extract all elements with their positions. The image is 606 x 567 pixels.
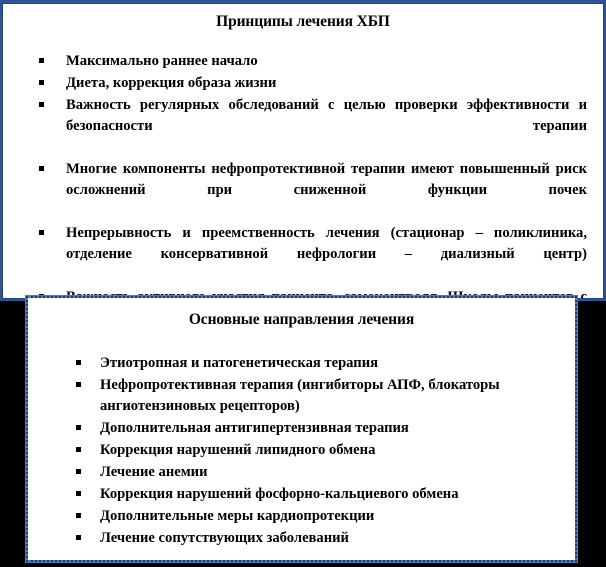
page-title-principles: Принципы лечения ХБП xyxy=(3,13,603,31)
square-bullet-icon xyxy=(76,513,81,518)
list-item: Лечение анемии xyxy=(76,462,561,483)
list-item-label: Максимально раннее начало xyxy=(66,51,587,72)
list-item-label: Этиотропная и патогенетическая терапия xyxy=(100,353,561,374)
list-item-label: Лечение анемии xyxy=(100,462,561,483)
list-item-label: Нефропротективная терапия (ингибиторы АП… xyxy=(100,375,561,417)
bullet-list-principles: Максимально раннее началоДиета, коррекци… xyxy=(39,51,587,298)
square-bullet-icon xyxy=(39,166,44,171)
square-bullet-icon xyxy=(76,447,81,452)
list-item: Коррекция нарушений липидного обмена xyxy=(76,440,561,461)
slide-panel-directions[interactable]: Основные направления лечения Этиотропная… xyxy=(25,295,578,563)
square-bullet-icon xyxy=(39,102,44,107)
list-item-label: Лечение сопутствующих заболеваний xyxy=(100,528,561,549)
list-item-label: Дополнительные меры кардиопротекции xyxy=(100,506,561,527)
list-item: Диета, коррекция образа жизни xyxy=(39,73,587,94)
list-item: Важность регулярных обследований с целью… xyxy=(39,95,587,158)
list-item: Этиотропная и патогенетическая терапия xyxy=(76,353,561,374)
list-item: Дополнительные меры кардиопротекции xyxy=(76,506,561,527)
square-bullet-icon xyxy=(39,230,44,235)
square-bullet-icon xyxy=(39,80,44,85)
list-item-label: Коррекция нарушений липидного обмена xyxy=(100,440,561,461)
list-item-label: Многие компоненты нефропротективной тера… xyxy=(66,159,587,222)
list-item: Многие компоненты нефропротективной тера… xyxy=(39,159,587,222)
square-bullet-icon xyxy=(76,425,81,430)
slide-content-principles: Принципы лечения ХБП Максимально раннее … xyxy=(3,4,603,298)
list-item: Дополнительная антигипертензивная терапи… xyxy=(76,418,561,439)
square-bullet-icon xyxy=(76,491,81,496)
square-bullet-icon xyxy=(39,58,44,63)
bullet-list-directions: Этиотропная и патогенетическая терапияНе… xyxy=(76,353,561,549)
square-bullet-icon xyxy=(76,360,81,365)
list-item-label: Дополнительная антигипертензивная терапи… xyxy=(100,418,561,439)
list-item-label: Коррекция нарушений фосфорно-кальциевого… xyxy=(100,484,561,505)
page-title-directions: Основные направления лечения xyxy=(28,311,575,329)
list-item: Нефропротективная терапия (ингибиторы АП… xyxy=(76,375,561,417)
slide-content-directions: Основные направления лечения Этиотропная… xyxy=(28,298,575,560)
slide-panel-principles[interactable]: Принципы лечения ХБП Максимально раннее … xyxy=(0,0,606,301)
square-bullet-icon xyxy=(76,469,81,474)
list-item: Непрерывность и преемственность лечения … xyxy=(39,223,587,286)
list-item: Лечение сопутствующих заболеваний xyxy=(76,528,561,549)
list-item: Максимально раннее начало xyxy=(39,51,587,72)
list-item-label: Непрерывность и преемственность лечения … xyxy=(66,223,587,286)
list-item: Коррекция нарушений фосфорно-кальциевого… xyxy=(76,484,561,505)
square-bullet-icon xyxy=(76,535,81,540)
list-item-label: Важность регулярных обследований с целью… xyxy=(66,95,587,158)
square-bullet-icon xyxy=(76,382,81,387)
list-item-label: Диета, коррекция образа жизни xyxy=(66,73,587,94)
